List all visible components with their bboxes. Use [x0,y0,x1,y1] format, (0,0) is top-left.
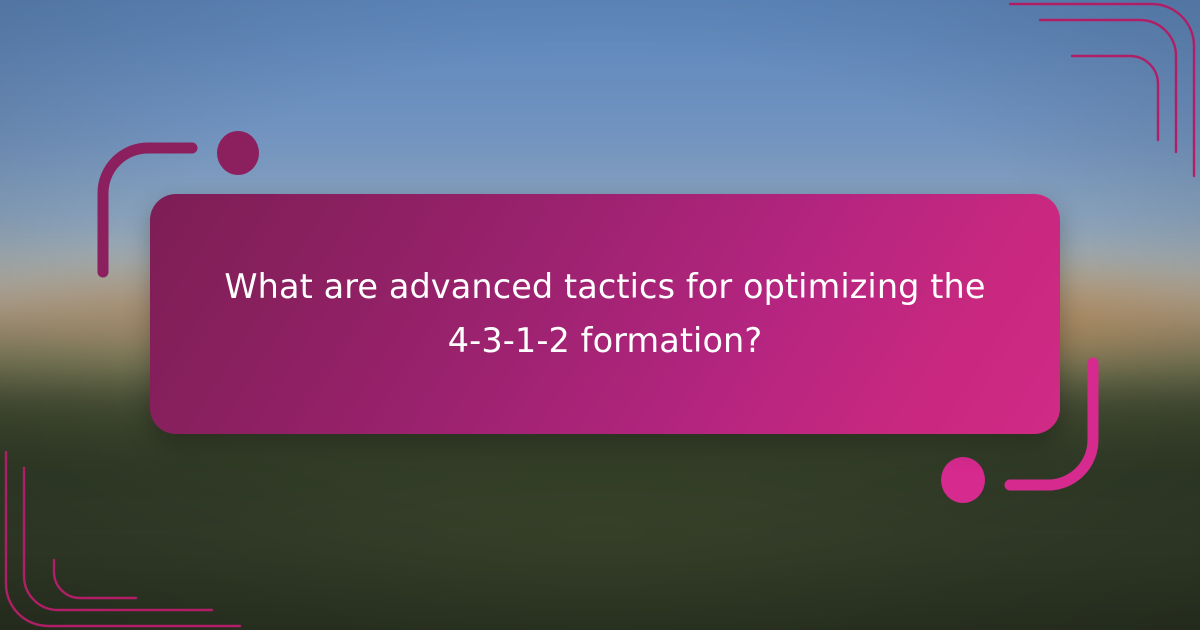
question-card: What are advanced tactics for optimizing… [150,194,1060,434]
question-text: What are advanced tactics for optimizing… [216,260,994,369]
question-card-graphic: What are advanced tactics for optimizing… [0,0,1200,630]
